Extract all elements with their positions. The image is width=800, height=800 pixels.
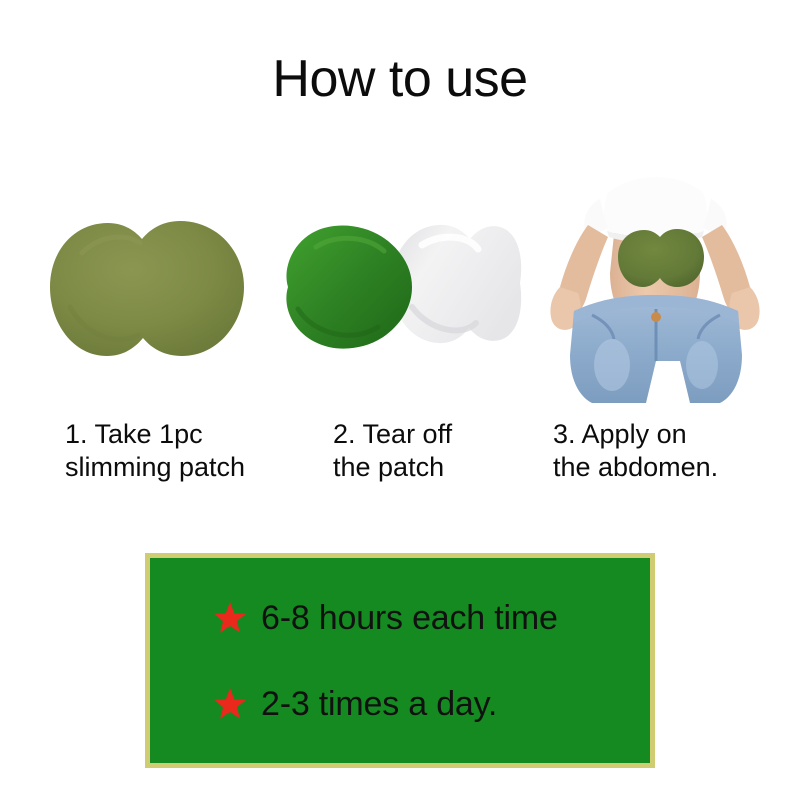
callout-item-frequency: 2-3 times a day. xyxy=(213,685,650,723)
step-2-caption: 2. Tear off the patch xyxy=(333,418,563,484)
page-title: How to use xyxy=(0,50,800,108)
step-2: 2. Tear off the patch xyxy=(272,175,522,495)
woman-applying-patch-figure xyxy=(530,175,780,403)
step-3: 3. Apply on the abdomen. xyxy=(530,175,780,495)
patch-peeling-from-liner-icon xyxy=(272,175,522,403)
step-3-caption: 3. Apply on the abdomen. xyxy=(553,418,783,484)
patch-peeling-from-liner-figure xyxy=(272,175,522,403)
red-star-icon xyxy=(213,601,247,635)
usage-callout-list: 6-8 hours each time 2-3 times a day. xyxy=(150,558,650,763)
steps-row: 1. Take 1pc slimming patch xyxy=(0,175,800,495)
olive-slimming-patch-icon xyxy=(22,175,272,403)
usage-callout-box: 6-8 hours each time 2-3 times a day. xyxy=(145,553,655,768)
step-1: 1. Take 1pc slimming patch xyxy=(22,175,272,495)
olive-slimming-patch-figure xyxy=(22,175,272,403)
callout-text-duration: 6-8 hours each time xyxy=(261,599,558,637)
callout-item-duration: 6-8 hours each time xyxy=(213,599,650,637)
woman-applying-patch-on-abdomen-icon xyxy=(530,175,780,403)
callout-text-frequency: 2-3 times a day. xyxy=(261,685,497,723)
red-star-icon xyxy=(213,687,247,721)
step-1-caption: 1. Take 1pc slimming patch xyxy=(65,418,295,484)
